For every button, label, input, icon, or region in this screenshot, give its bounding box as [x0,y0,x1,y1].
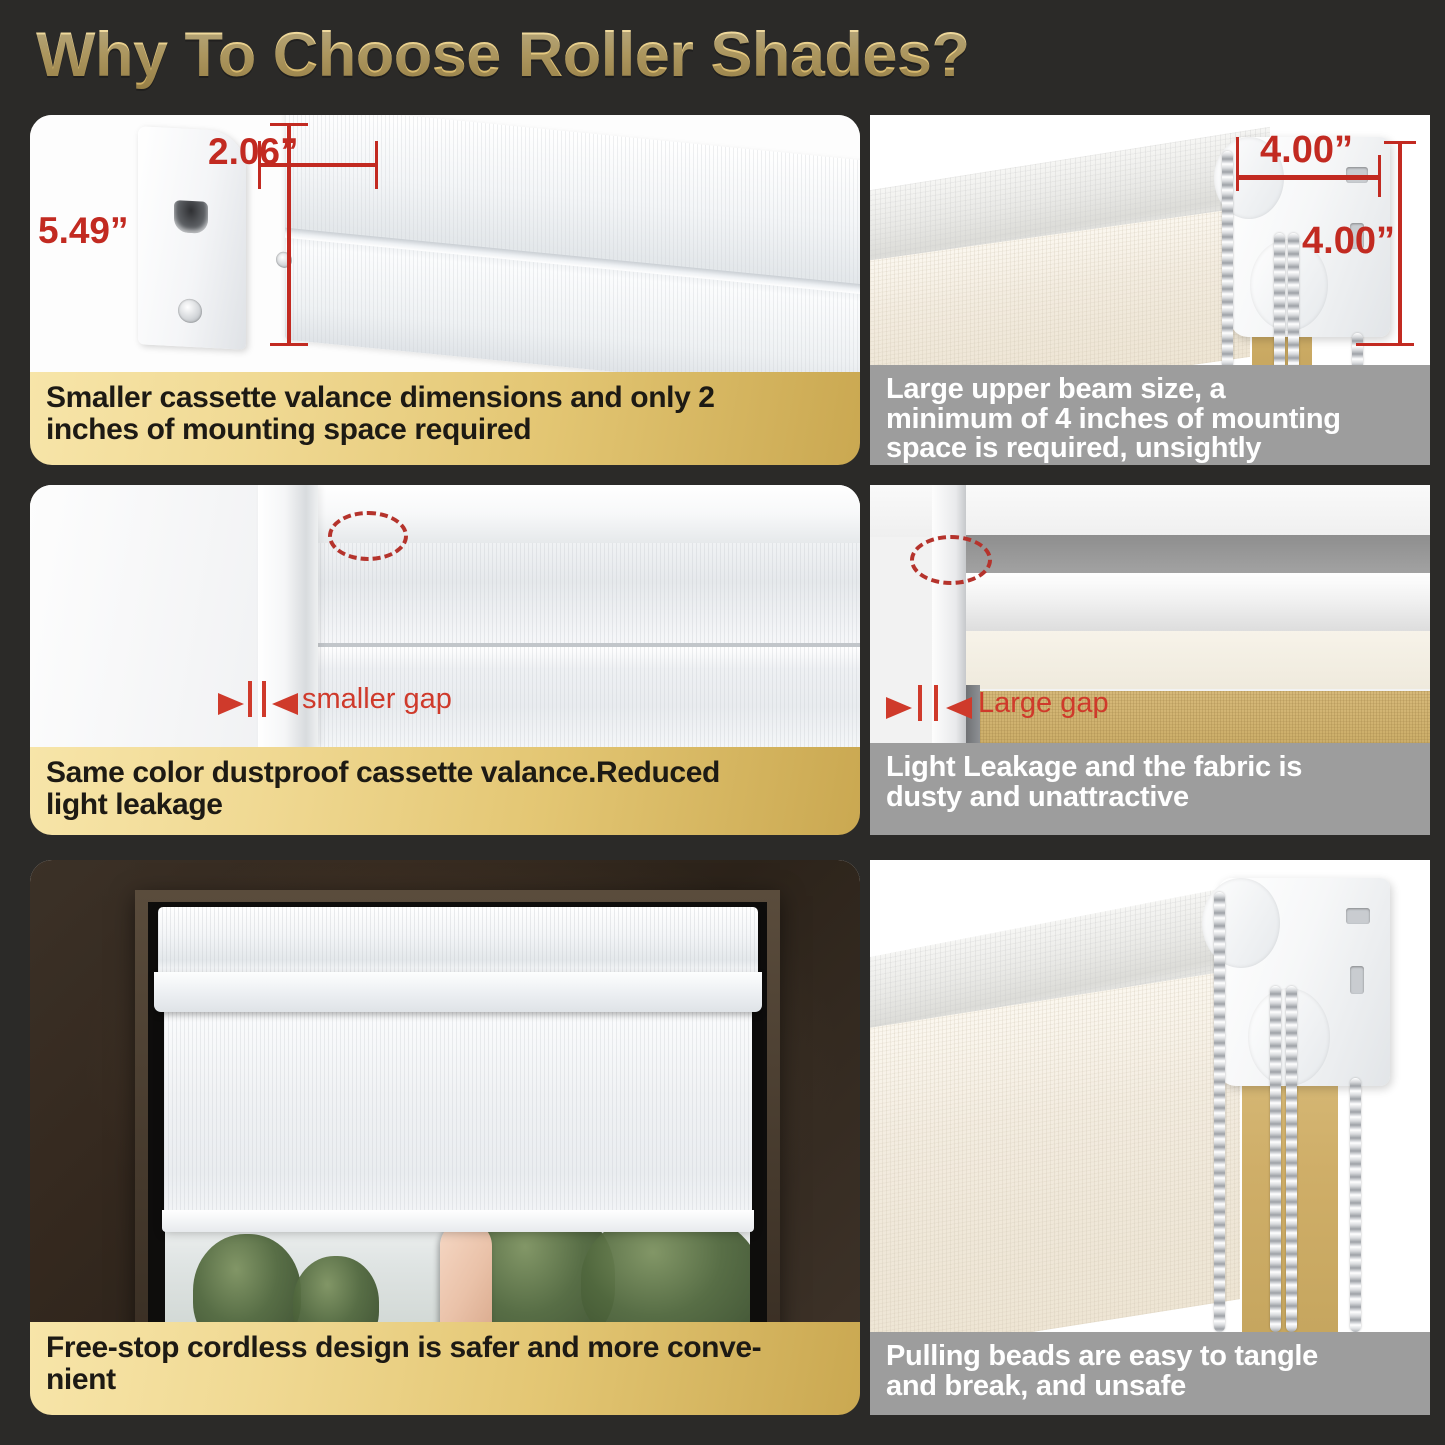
large-gap-label: Large gap [978,687,1109,720]
height-dimension-label: 5.49” [38,210,129,252]
height-dim-tick-bottom [270,343,308,346]
caption-bar: Smaller cassette valance dimensions and … [30,372,860,465]
panel-cassette-dimensions: 2.06” 5.49” Smaller cassette valance dim… [30,115,860,465]
cassette-valance-photo: 2.06” 5.49” [30,115,860,390]
gap-marker-line [934,685,938,721]
roller-tube-graphic [962,573,1430,633]
highlight-ellipse-icon [910,535,992,585]
bead-chain [1288,233,1299,370]
gap-arrow-left-icon [946,697,972,719]
beam-width-tick-left [1236,137,1239,191]
highlight-ellipse-icon [328,511,408,561]
height-dim-line [287,123,291,345]
bead-chain [1214,892,1225,1332]
beam-height-label: 4.00” [1302,220,1395,263]
gap-marker-line [248,681,252,717]
caption-bar: Pulling beads are easy to tangle and bre… [870,1332,1430,1415]
comparison-grid: 2.06” 5.49” Smaller cassette valance dim… [0,0,1445,1445]
beam-width-label: 4.00” [1260,129,1353,172]
beam-height-tick-top [1384,141,1416,144]
shade-fabric-graphic [164,1010,752,1228]
screw-icon [178,298,202,323]
beam-width-line [1236,175,1381,180]
bead-chain [1350,1078,1361,1332]
height-dim-tick-top [270,123,308,126]
dustproof-valance-photo: smaller gap [30,485,860,747]
cassette-headrail-graphic [158,907,758,975]
caption-text: Free-stop cordless design is safer and m… [46,1332,761,1396]
width-dim-tick-right [375,141,378,189]
caption-text: Smaller cassette valance dimensions and … [46,382,715,446]
bottom-rail-graphic [162,1210,754,1232]
beam-width-tick-right [1378,155,1381,197]
panel-large-beam: 4.00” 4.00” Large upper beam size, a min… [870,115,1430,465]
gap-arrow-right-icon [218,693,244,715]
width-dimension-label: 2.06” [208,131,299,173]
gap-marker-line [918,685,922,721]
light-leakage-photo: Large gap [870,485,1430,743]
panel-cordless-design: Free-stop cordless design is safer and m… [30,860,860,1415]
caption-text: Light Leakage and the fabric is dusty an… [886,753,1302,812]
cordless-room-photo [30,860,860,1340]
caption-bar: Same color dustproof cassette valance.Re… [30,747,860,835]
beam-height-tick-bottom [1356,343,1414,346]
large-beam-photo: 4.00” 4.00” [870,115,1430,370]
beam-height-line [1398,141,1402,346]
bead-chain [1270,986,1281,1332]
bead-chain [1274,233,1285,370]
gap-marker-line [262,681,266,717]
cassette-lip-graphic [154,972,762,1012]
shade-fabric-graphic [870,969,1240,1332]
panel-dustproof-valance: smaller gap Same color dustproof cassett… [30,485,860,835]
bead-chain [1286,986,1297,1332]
caption-text: Large upper beam size, a minimum of 4 in… [886,375,1341,464]
caption-text: Same color dustproof cassette valance.Re… [46,757,720,821]
gap-arrow-right-icon [886,697,912,719]
panel-pulling-beads: Pulling beads are easy to tangle and bre… [870,860,1430,1415]
smaller-gap-label: smaller gap [302,683,452,716]
caption-text: Pulling beads are easy to tangle and bre… [886,1342,1318,1401]
panel-light-leakage: Large gap Light Leakage and the fabric i… [870,485,1430,835]
cream-band-graphic [962,631,1430,689]
endcap-hole-icon [174,200,208,234]
caption-bar: Light Leakage and the fabric is dusty an… [870,743,1430,835]
bead-chain [1222,151,1233,370]
valance-face-graphic [316,539,860,643]
pulling-beads-photo [870,860,1430,1332]
caption-bar: Free-stop cordless design is safer and m… [30,1322,860,1415]
shadow-band-graphic [962,535,1430,577]
caption-bar: Large upper beam size, a minimum of 4 in… [870,365,1430,465]
gap-arrow-left-icon [272,693,298,715]
